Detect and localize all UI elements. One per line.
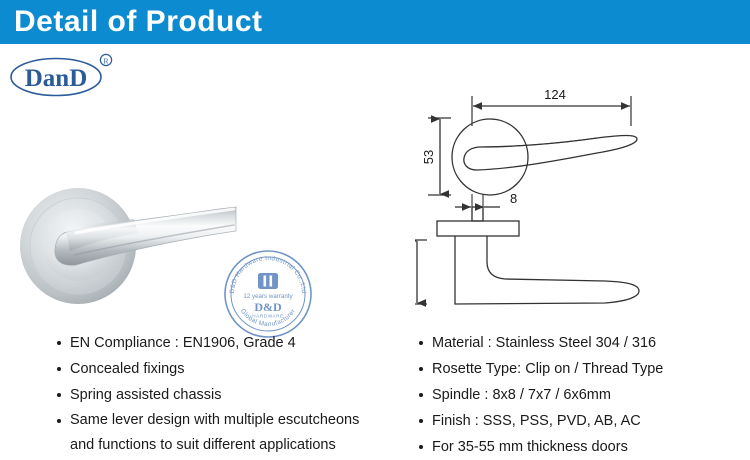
dim-label-8: 8 <box>510 191 517 206</box>
spec-item-concealed-fixings: Concealed fixings <box>56 356 386 382</box>
spec-item-en-compliance: EN Compliance : EN1906, Grade 4 <box>56 330 386 356</box>
spec-item-material: Material : Stainless Steel 304 / 316 <box>418 330 738 356</box>
spec-list-right: Material : Stainless Steel 304 / 316 Ros… <box>418 330 738 460</box>
stamp-warranty-text: 12 years warranty <box>243 293 293 300</box>
technical-drawing: 124 53 8 64 <box>415 82 750 317</box>
header-banner: Detail of Product <box>0 0 750 44</box>
side-view-spindle <box>472 207 483 221</box>
brand-logo: DanD R <box>8 50 128 102</box>
spec-item-spindle: Spindle : 8x8 / 7x7 / 6x6mm <box>418 382 738 408</box>
side-view-lever <box>455 236 639 304</box>
spec-item-spring-chassis: Spring assisted chassis <box>56 382 386 408</box>
front-view-lever <box>464 136 637 171</box>
side-view-rosette-plate <box>437 221 519 236</box>
front-view-rosette <box>452 119 528 195</box>
spec-item-finish: Finish : SSS, PSS, PVD, AB, AC <box>418 408 738 434</box>
product-photo <box>14 175 239 320</box>
spec-list-left: EN Compliance : EN1906, Grade 4 Conceale… <box>56 330 386 458</box>
watermark-stamp: D&D Hardware Industrial Co.,Ltd Global M… <box>222 248 314 340</box>
stamp-emblem-bar-right <box>270 276 273 287</box>
stamp-center-text: D&D <box>254 300 282 314</box>
registered-trademark-letter: R <box>103 57 108 66</box>
logo-wordmark: DanD <box>25 65 88 92</box>
spec-item-door-thickness: For 35-55 mm thickness doors <box>418 434 738 460</box>
dim-label-124: 124 <box>544 87 566 102</box>
stamp-emblem-bar-left <box>264 276 267 287</box>
spec-item-rosette-type: Rosette Type: Clip on / Thread Type <box>418 356 738 382</box>
stamp-sub-text: HARDWARE <box>252 314 283 319</box>
stamp-emblem-icon <box>258 273 278 289</box>
front-view-lever-topline <box>481 138 597 147</box>
page-title: Detail of Product <box>14 4 263 40</box>
dim-label-53: 53 <box>421 150 436 164</box>
